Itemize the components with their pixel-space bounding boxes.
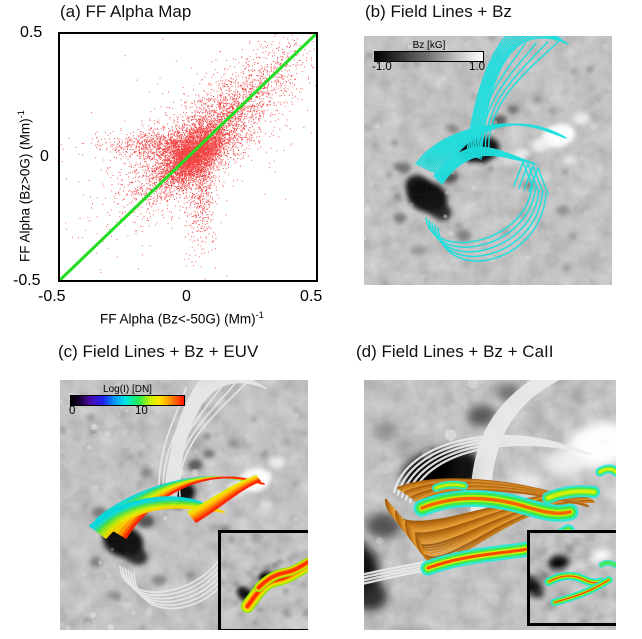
panel-b-title: (b) Field Lines + Bz — [365, 2, 512, 22]
y-tick-0: 0.5 — [20, 24, 42, 42]
x-tick-2: 0.5 — [300, 288, 322, 306]
figure-canvas: (a) FF Alpha Map 0.5 0 -0.5 -0.5 0 0.5 F… — [0, 0, 642, 639]
inset-d — [527, 530, 616, 626]
y-axis-label: FF Alpha (Bz>0G) (Mm)-1 — [16, 110, 33, 262]
colorbar-bz-max: 1.0 — [469, 61, 485, 73]
panel-c-field-lines-bz-euv: (c) Field Lines + Bz + EUV Log(I) [DN] 0… — [0, 340, 330, 639]
colorbar-bz: Bz [kG] -1.0 1.0 — [374, 40, 484, 75]
x-tick-0: -0.5 — [38, 288, 66, 306]
colorbar-euv-label: Log(I) [DN] — [70, 384, 185, 395]
inset-c-image — [221, 533, 308, 629]
colorbar-bz-ticks: -1.0 1.0 — [374, 62, 484, 75]
inset-c — [218, 530, 308, 630]
colorbar-euv-gradient — [70, 395, 185, 406]
panel-b-field-lines-bz: (b) Field Lines + Bz Bz [kG] -1.0 1.0 — [330, 0, 642, 330]
scatter-plot-area — [60, 34, 316, 280]
inset-d-image — [530, 533, 616, 623]
colorbar-euv-ticks: 0 10 — [70, 406, 185, 419]
x-axis-label: FF Alpha (Bz<-50G) (Mm)-1 — [100, 310, 264, 327]
y-tick-1: 0 — [40, 148, 49, 166]
y-axis-label-exponent: -1 — [16, 110, 26, 118]
y-axis-label-text: FF Alpha (Bz>0G) (Mm) — [18, 118, 33, 262]
x-tick-1: 0 — [182, 288, 191, 306]
scatter-axes — [58, 32, 318, 282]
panel-c-title: (c) Field Lines + Bz + EUV — [58, 342, 258, 362]
colorbar-bz-min: -1.0 — [372, 61, 392, 73]
colorbar-euv: Log(I) [DN] 0 10 — [70, 384, 185, 419]
colorbar-euv-max: 10 — [135, 405, 148, 417]
y-tick-2: -0.5 — [13, 272, 41, 290]
x-axis-label-text: FF Alpha (Bz<-50G) (Mm) — [100, 312, 256, 327]
panel-a-ff-alpha-map: (a) FF Alpha Map 0.5 0 -0.5 -0.5 0 0.5 F… — [0, 0, 330, 330]
panel-a-title: (a) FF Alpha Map — [60, 2, 191, 22]
x-axis-label-exponent: -1 — [256, 310, 264, 320]
panel-d-field-lines-bz-caii: (d) Field Lines + Bz + CaII — [330, 340, 642, 639]
colorbar-bz-label: Bz [kG] — [374, 40, 484, 51]
magnetogram-d — [364, 380, 616, 630]
colorbar-euv-min: 0 — [69, 405, 75, 417]
panel-d-title: (d) Field Lines + Bz + CaII — [356, 342, 553, 362]
